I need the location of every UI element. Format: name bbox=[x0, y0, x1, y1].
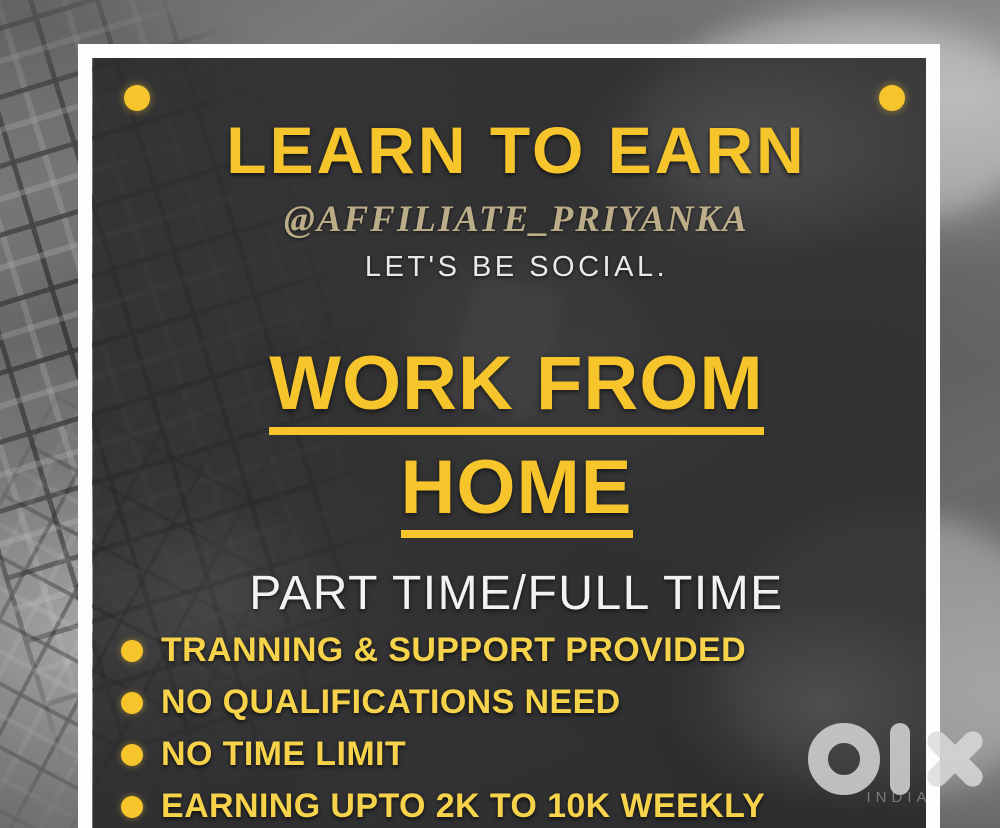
main-heading-line-1: WORK FROM bbox=[93, 345, 940, 435]
list-item: EARNING UPTO 2K TO 10K WEEKLY bbox=[121, 781, 921, 828]
main-heading: WORK FROM HOME bbox=[93, 345, 940, 538]
social-handle: @AFFILIATE_PRIYANKA bbox=[93, 198, 940, 241]
list-item: NO TIME LIMIT bbox=[121, 729, 921, 780]
tagline-lets-be-social: LET'S BE SOCIAL. bbox=[93, 251, 940, 284]
bullet-dot-icon bbox=[121, 692, 143, 714]
main-heading-line-1-text: WORK FROM bbox=[269, 345, 763, 435]
main-heading-line-2: HOME bbox=[93, 449, 940, 539]
list-item-label: EARNING UPTO 2K TO 10K WEEKLY bbox=[161, 787, 765, 826]
bullet-dot-icon bbox=[121, 744, 143, 766]
list-item: NO QUALIFICATIONS NEED bbox=[121, 677, 921, 728]
list-item-label: NO QUALIFICATIONS NEED bbox=[161, 683, 621, 722]
main-heading-line-2-text: HOME bbox=[401, 449, 633, 539]
corner-dot-icon-top-right bbox=[879, 85, 905, 111]
benefits-list: TRANNING & SUPPORT PROVIDED NO QUALIFICA… bbox=[121, 625, 921, 828]
poster-root: LEARN TO EARN @AFFILIATE_PRIYANKA LET'S … bbox=[0, 0, 1000, 828]
list-item-label: TRANNING & SUPPORT PROVIDED bbox=[161, 631, 746, 670]
list-item: TRANNING & SUPPORT PROVIDED bbox=[121, 625, 921, 676]
poster-content: LEARN TO EARN @AFFILIATE_PRIYANKA LET'S … bbox=[93, 57, 940, 828]
bullet-dot-icon bbox=[121, 796, 143, 818]
bullet-dot-icon bbox=[121, 640, 143, 662]
list-item-label: NO TIME LIMIT bbox=[161, 735, 406, 774]
headline-learn-to-earn: LEARN TO EARN bbox=[93, 112, 940, 188]
corner-dot-icon-top-left bbox=[124, 85, 150, 111]
availability-text: PART TIME/FULL TIME bbox=[93, 566, 940, 621]
